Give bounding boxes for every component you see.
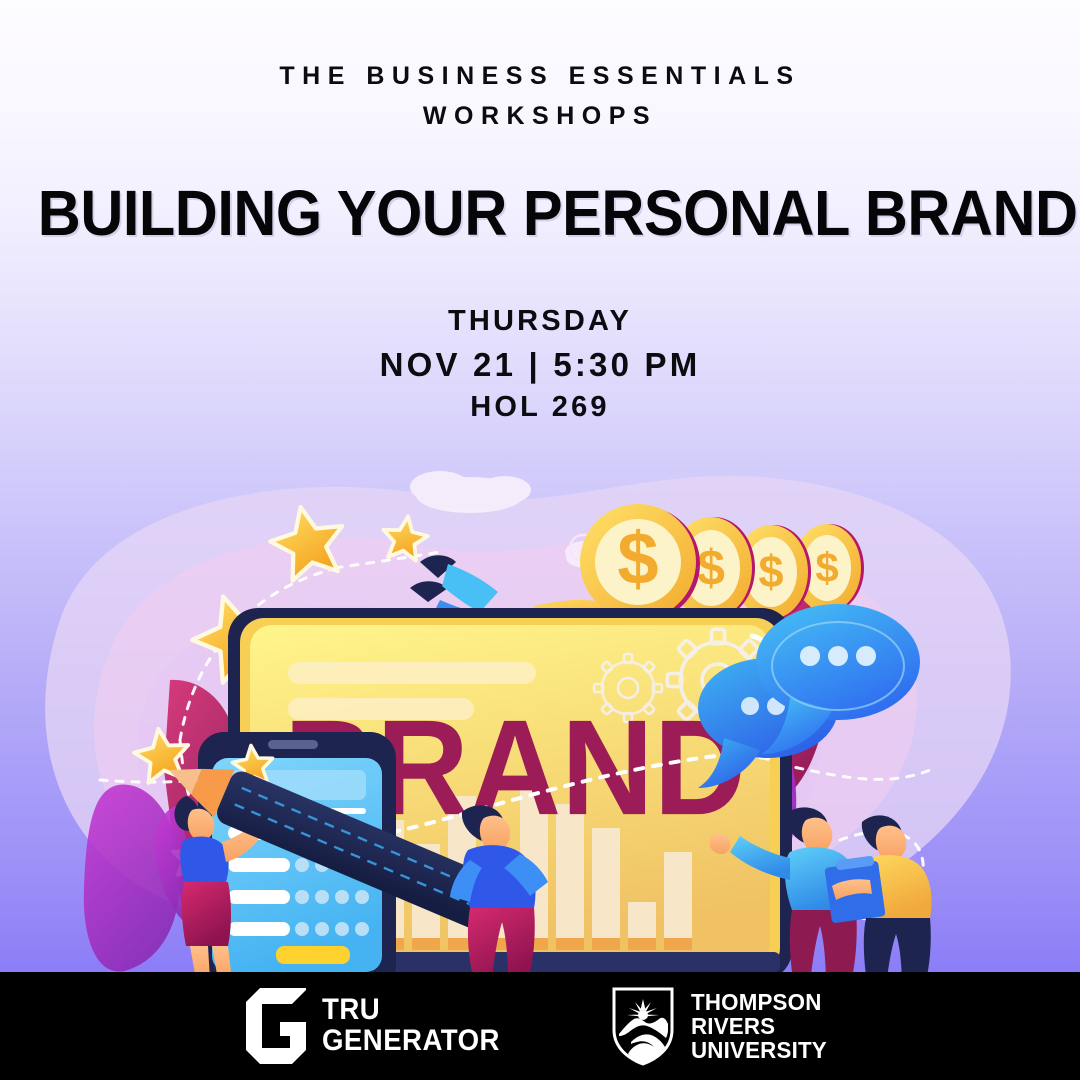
- svg-text:$: $: [697, 540, 725, 596]
- eyebrow-line-1: THE BUSINESS ESSENTIALS: [0, 56, 1080, 96]
- tru-generator-logo: TRU GENERATOR: [246, 988, 515, 1064]
- page-title: BUILDING YOUR PERSONAL BRAND: [38, 176, 1042, 250]
- tru-line-1: THOMPSON: [691, 990, 827, 1014]
- tru-line-2: RIVERS: [691, 1014, 827, 1038]
- event-details: THURSDAY NOV 21 | 5:30 PM HOL 269: [0, 300, 1080, 429]
- poster-canvas: THE BUSINESS ESSENTIALS WORKSHOPS BUILDI…: [0, 0, 1080, 1080]
- tru-generator-line-2: GENERATOR: [322, 1026, 500, 1057]
- svg-text:$: $: [617, 517, 658, 600]
- svg-text:$: $: [815, 544, 838, 591]
- event-day: THURSDAY: [0, 300, 1080, 343]
- tru-line-3: UNIVERSITY: [691, 1038, 827, 1062]
- eyebrow-line-2: WORKSHOPS: [0, 96, 1080, 136]
- tru-generator-g-mark: [246, 988, 306, 1064]
- tru-shield-crest: [611, 986, 675, 1066]
- eyebrow-heading: THE BUSINESS ESSENTIALS WORKSHOPS: [0, 56, 1080, 136]
- tru-wordmark: THOMPSON RIVERS UNIVERSITY: [691, 990, 827, 1063]
- tru-generator-line-1: TRU: [322, 995, 500, 1026]
- event-date-time: NOV 21 | 5:30 PM: [0, 343, 1080, 386]
- event-location: HOL 269: [0, 386, 1080, 429]
- svg-text:$: $: [758, 546, 783, 597]
- brand-illustration: $ $ $ $: [0, 440, 1080, 985]
- thompson-rivers-university-logo: THOMPSON RIVERS UNIVERSITY: [611, 986, 834, 1066]
- footer-bar: TRU GENERATOR: [0, 972, 1080, 1080]
- tru-generator-wordmark: TRU GENERATOR: [322, 995, 500, 1057]
